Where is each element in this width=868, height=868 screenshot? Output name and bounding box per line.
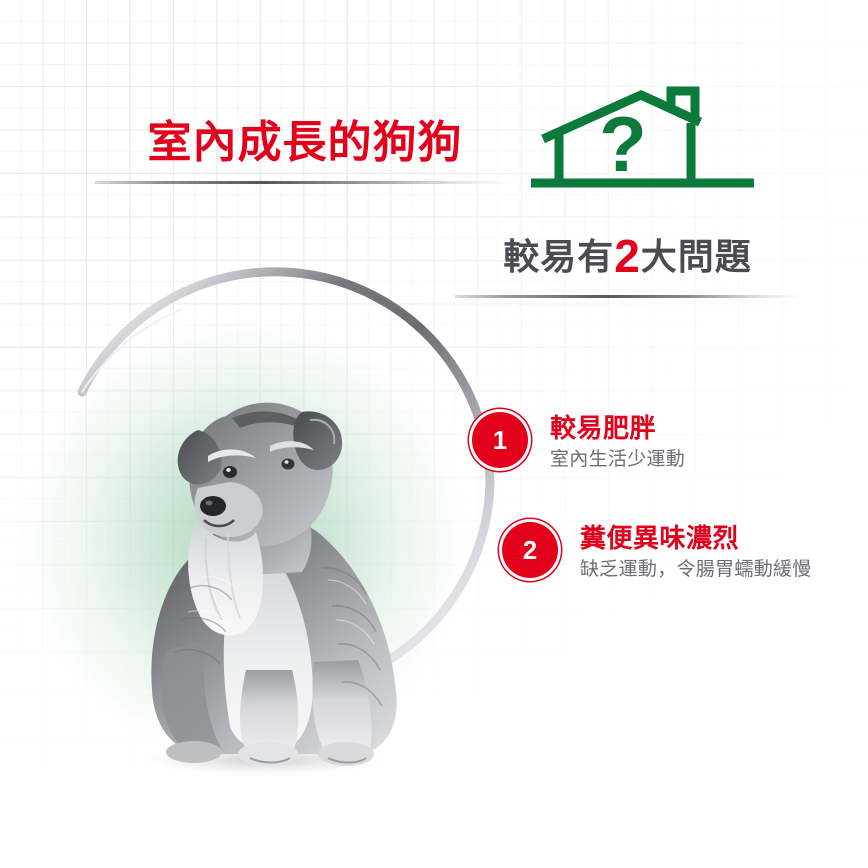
page-title: 室內成長的狗狗 <box>95 118 515 167</box>
problem-text-2: 糞便異味濃烈 缺乏運動，令腸胃蠕動緩慢 <box>580 522 812 582</box>
problem-description-1: 室內生活少運動 <box>550 448 685 472</box>
problem-text-1: 較易肥胖 室內生活少運動 <box>550 412 685 472</box>
problem-item-2: 2 糞便異味濃烈 缺乏運動，令腸胃蠕動緩慢 <box>502 522 812 582</box>
subtitle-prefix: 較易有 <box>503 236 614 277</box>
subtitle: 較易有2大問題 <box>455 228 800 283</box>
dog-illustration <box>70 320 460 780</box>
subtitle-suffix: 大問題 <box>641 236 752 277</box>
problem-description-2: 缺乏運動，令腸胃蠕動緩慢 <box>580 558 812 582</box>
subtitle-count: 2 <box>614 230 641 282</box>
problem-badge-2: 2 <box>502 522 558 578</box>
title-block: 室內成長的狗狗 <box>95 118 515 184</box>
problem-heading-1: 較易肥胖 <box>550 413 685 444</box>
subtitle-underline <box>455 295 800 298</box>
infographic-canvas: 室內成長的狗狗 ? 較易有2大問題 1 較易肥胖 室內生活少運動 <box>0 0 868 868</box>
problem-item-1: 1 較易肥胖 室內生活少運動 <box>472 412 685 472</box>
svg-text:?: ? <box>599 100 647 188</box>
subtitle-block: 較易有2大問題 <box>455 228 800 298</box>
title-underline <box>95 181 515 184</box>
problem-badge-1: 1 <box>472 412 528 468</box>
problem-heading-2: 糞便異味濃烈 <box>580 523 812 554</box>
house-question-icon: ? <box>525 85 760 205</box>
